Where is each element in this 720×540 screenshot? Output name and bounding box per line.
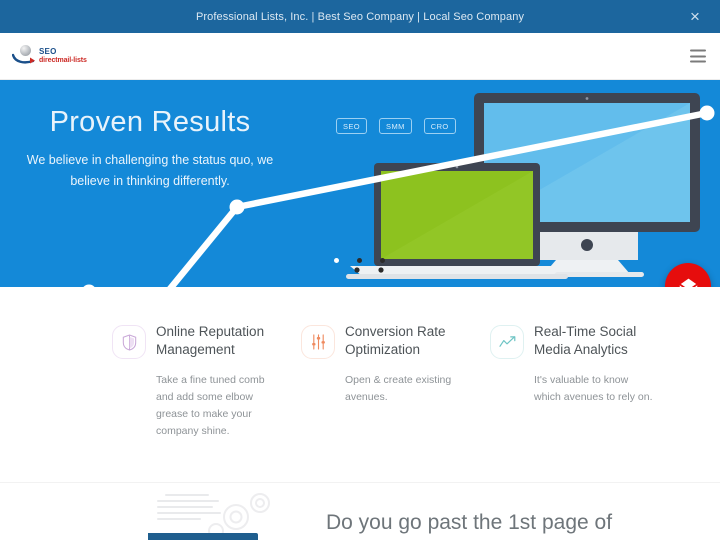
badge-cro[interactable]: CRO: [424, 118, 456, 134]
features-section: Online Reputation Management Take a fine…: [0, 287, 720, 482]
feature-description: Open & create existing avenues.: [345, 372, 466, 406]
carousel-pagination: [334, 258, 385, 263]
cta-section: Do you go past the 1st page of: [0, 482, 720, 540]
feature-description: It's valuable to know which avenues to r…: [534, 372, 655, 406]
email-envelope-icon: [678, 278, 699, 288]
sliders-icon: [301, 325, 335, 359]
page-title: Proven Results: [0, 106, 300, 139]
line-chart-icon: [490, 325, 524, 359]
top-announcement-bar: Professional Lists, Inc. | Best Seo Comp…: [0, 0, 720, 33]
site-header: SEO directmail-lists: [0, 33, 720, 80]
document-gears-icon: [148, 487, 328, 540]
shield-icon: [112, 325, 146, 359]
hero-badge-group: SEO SMM CRO: [336, 118, 456, 134]
site-logo[interactable]: SEO directmail-lists: [12, 45, 87, 67]
carousel-dot-2[interactable]: [357, 258, 362, 263]
carousel-dot-3[interactable]: [380, 258, 385, 263]
logo-primary-text: SEO: [39, 48, 87, 56]
cta-heading: Do you go past the 1st page of: [326, 511, 612, 535]
close-icon[interactable]: ×: [684, 6, 706, 28]
feature-title: Real-Time Social Media Analytics: [534, 323, 655, 359]
hero-banner: Proven Results We believe in challenging…: [0, 80, 720, 287]
hamburger-menu-icon[interactable]: [690, 50, 706, 63]
badge-seo[interactable]: SEO: [336, 118, 367, 134]
feature-list: Online Reputation Management Take a fine…: [0, 323, 720, 440]
feature-card-online-reputation-management[interactable]: Online Reputation Management Take a fine…: [112, 323, 277, 440]
feature-description: Take a fine tuned comb and add some elbo…: [156, 372, 277, 440]
badge-smm[interactable]: SMM: [379, 118, 412, 134]
logo-wordmark: SEO directmail-lists: [39, 48, 87, 64]
hero-subtitle: We believe in challenging the status quo…: [0, 150, 300, 191]
carousel-dot-1[interactable]: [334, 258, 339, 263]
feature-title: Online Reputation Management: [156, 323, 277, 359]
logo-swoosh-icon: [12, 51, 36, 65]
logo-secondary-text: directmail-lists: [39, 57, 87, 64]
hero-text-block: Proven Results We believe in challenging…: [0, 106, 300, 191]
announcement-text: Professional Lists, Inc. | Best Seo Comp…: [196, 11, 524, 23]
feature-title: Conversion Rate Optimization: [345, 323, 466, 359]
logo-globe-arrow-icon: [12, 45, 36, 67]
feature-card-real-time-social-media-analytics[interactable]: Real-Time Social Media Analytics It's va…: [490, 323, 655, 440]
feature-card-conversion-rate-optimization[interactable]: Conversion Rate Optimization Open & crea…: [301, 323, 466, 440]
